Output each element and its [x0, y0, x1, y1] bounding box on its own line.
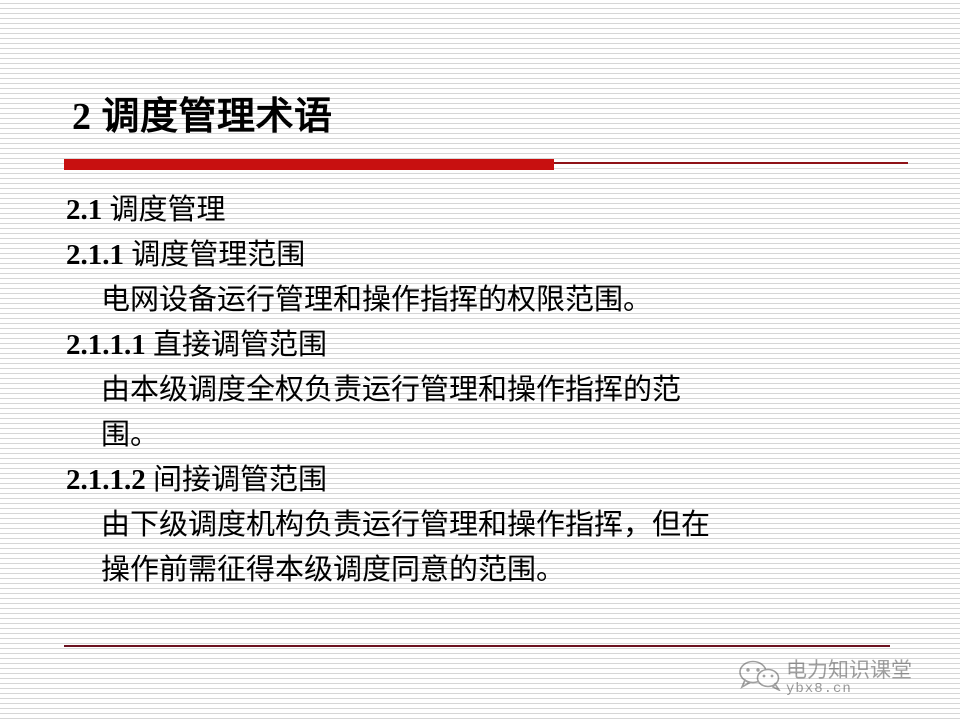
content-line: 2.1.1.2 间接调管范围: [0, 458, 960, 503]
line-text: 调度管理范围: [131, 239, 305, 271]
page-title: 2 调度管理术语: [72, 90, 932, 144]
title-block: 2 调度管理术语: [72, 90, 932, 148]
body-content: 2.1 调度管理 2.1.1 调度管理范围 电网设备运行管理和操作指挥的权限范围…: [0, 188, 960, 593]
line-number: 2.1.1: [66, 239, 131, 271]
line-text: 直接调管范围: [153, 329, 327, 361]
content-line: 2.1.1.1 直接调管范围: [0, 323, 960, 368]
slide-canvas: 2 调度管理术语 2.1 调度管理 2.1.1 调度管理范围 电网设备运行管理和…: [0, 0, 960, 720]
line-text: 间接调管范围: [153, 464, 327, 496]
line-text: 围。: [101, 419, 159, 451]
content-line: 操作前需征得本级调度同意的范围。: [0, 548, 960, 593]
content-line: 围。: [0, 413, 960, 458]
line-text: 电网设备运行管理和操作指挥的权限范围。: [101, 284, 652, 316]
watermark-url: ybx8.cn: [786, 681, 852, 697]
line-text: 由下级调度机构负责运行管理和操作指挥，但在: [101, 509, 710, 541]
line-number: 2.1: [66, 194, 110, 226]
content-line: 2.1.1 调度管理范围: [0, 233, 960, 278]
line-text: 调度管理: [110, 194, 226, 226]
title-divider: [64, 158, 908, 170]
wechat-bubble-icon: [738, 659, 782, 691]
line-number: 2.1.1.2: [66, 464, 153, 496]
divider-accent-bar: [64, 159, 554, 170]
footer-divider: [64, 645, 890, 647]
content-line: 由下级调度机构负责运行管理和操作指挥，但在: [0, 503, 960, 548]
watermark: 电力知识课堂 ybx8.cn: [738, 655, 953, 713]
line-text: 操作前需征得本级调度同意的范围。: [101, 554, 565, 586]
content-line: 电网设备运行管理和操作指挥的权限范围。: [0, 278, 960, 323]
content-line: 2.1 调度管理: [0, 188, 960, 233]
line-text: 由本级调度全权负责运行管理和操作指挥的范: [101, 374, 681, 406]
content-line: 由本级调度全权负责运行管理和操作指挥的范: [0, 368, 960, 413]
line-number: 2.1.1.1: [66, 329, 153, 361]
watermark-name: 电力知识课堂: [786, 657, 912, 683]
